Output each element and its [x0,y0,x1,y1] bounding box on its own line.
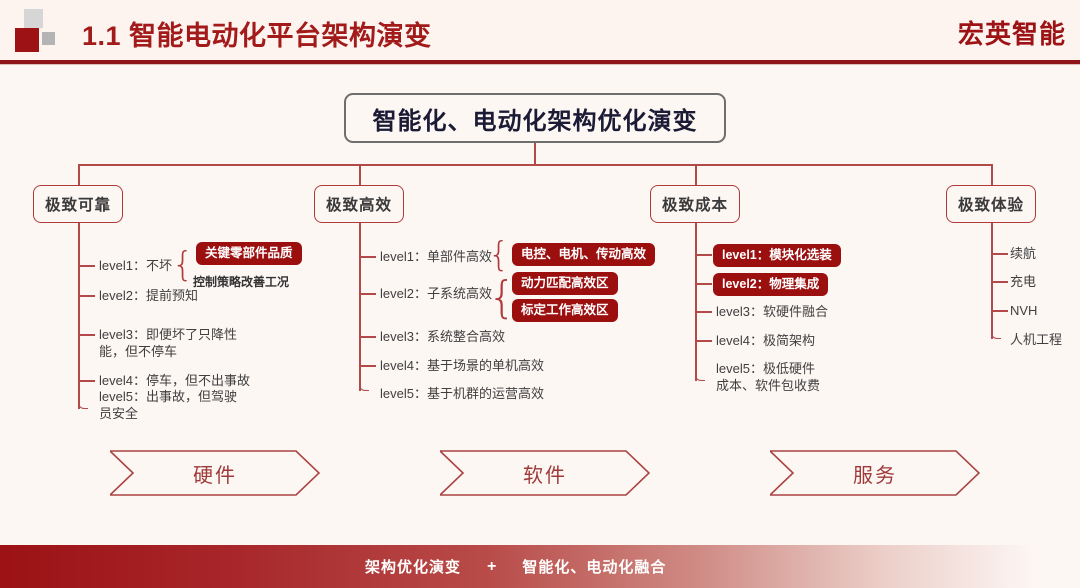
column-2-annotation-badge-2: 动力匹配高效区 [512,272,618,295]
chevron-hardware[interactable]: 硬件 [110,450,320,496]
chevron-service-shape [770,450,980,496]
column-4-tick-1 [992,253,1008,255]
column-4-tick-2 [992,281,1008,283]
column-4-tick-3 [992,310,1008,312]
column-3-level-4: level4：极简架构 [716,332,815,349]
column-2-tick-2 [360,293,376,295]
column-2-level-3: level3：系统整合高效 [380,328,505,345]
column-4-level-4: 人机工程 [1010,331,1062,348]
column-3-tick-2 [696,283,712,285]
branch-node-4-label: 极致体验 [958,193,1024,215]
column-1-annotation-badge: 关键零部件品质 [196,242,302,265]
column-1-tick-3 [79,334,95,336]
column-3-level-2: level2：物理集成 [713,273,828,296]
column-4-level-3: NVH [1010,302,1037,319]
column-1-tick-1 [79,265,95,267]
column-3-level-3: level3：软硬件融合 [716,303,828,320]
column-2-level-5: level5：基于机群的运营高效 [380,385,544,402]
branch-node-1-label: 极致可靠 [45,193,111,215]
branch-node-4: 极致体验 [946,185,1036,223]
column-1-spine-cap [78,399,88,409]
footer-right-text: 智能化、电动化融合 [522,556,666,577]
branch-node-3: 极致成本 [650,185,740,223]
root-node-label: 智能化、电动化架构优化演变 [373,101,698,136]
column-2-tick-3 [360,336,376,338]
root-node: 智能化、电动化架构优化演变 [344,93,726,143]
column-1-tick-2 [79,295,95,297]
column-2-level-2: level2：子系统高效 [380,285,492,302]
column-3-tick-4 [696,340,712,342]
column-3-level-5: level5：极低硬件 成本、软件包收费 [716,360,820,394]
column-3-level-1: level1：模块化选装 [713,244,841,267]
branch-node-3-label: 极致成本 [662,193,728,215]
branch-node-2-label: 极致高效 [326,193,392,215]
column-3-spine-cap [695,371,705,381]
decor-square-gray-small [42,32,55,45]
slide-header: 1.1 智能电动化平台架构演变 宏英智能 [0,0,1080,62]
footer-left-text: 架构优化演变 [365,556,461,577]
connector-bus [78,164,992,166]
column-1-level-5: level5：出事故，但驾驶 员安全 [99,388,237,422]
connector-drop-3 [695,164,697,186]
column-2-tick-1 [360,256,376,258]
column-2-level-4: level4：基于场景的单机高效 [380,357,544,374]
connector-drop-4 [991,164,993,186]
chevron-hardware-shape [110,450,320,496]
column-4-spine-cap [991,329,1001,339]
brand-logo: 宏英智能 [958,14,1066,51]
column-4-level-1: 续航 [1010,245,1036,262]
column-1-level-3: level3：即便坏了只降性 能，但不停车 [99,326,237,360]
column-1-level-2: level2：提前预知 [99,287,198,304]
column-1-brace: { [172,248,194,282]
page-title: 1.1 智能电动化平台架构演变 [82,14,432,53]
connector-drop-1 [78,164,80,186]
header-divider-thin [0,64,1080,65]
footer-content: 架构优化演变 + 智能化、电动化融合 [0,545,1080,588]
column-1-level-1: level1：不坏 [99,257,172,274]
column-1-annotation-note: 控制策略改善工况 [193,273,289,290]
connector-drop-2 [359,164,361,186]
slide-footer: 架构优化演变 + 智能化、电动化融合 [0,545,1080,588]
footer-plus-sign: + [487,558,496,576]
decor-square-gray-top [24,9,43,28]
column-2-annotation-badge-3: 标定工作高效区 [512,299,618,322]
branch-node-2: 极致高效 [314,185,404,223]
column-3-tick-3 [696,311,712,313]
branch-node-1: 极致可靠 [33,185,123,223]
column-2-spine-cap [359,381,369,391]
chevron-software[interactable]: 软件 [440,450,650,496]
column-1-tick-4 [79,380,95,382]
slide-canvas: 1.1 智能电动化平台架构演变 宏英智能 智能化、电动化架构优化演变 极致可靠 … [0,0,1080,588]
column-1-level-4: level4：停车，但不出事故 [99,372,250,389]
root-stem [534,143,536,165]
column-2-tick-4 [360,365,376,367]
column-2-brace-1: { [488,238,510,272]
chevron-service[interactable]: 服务 [770,450,980,496]
decor-square-red [15,28,39,52]
chevron-software-shape [440,450,650,496]
column-3-spine [695,223,697,381]
column-4-level-2: 充电 [1010,273,1036,290]
column-2-level-1: level1：单部件高效 [380,248,492,265]
column-3-tick-1 [696,254,712,256]
column-2-annotation-badge-1: 电控、电机、传动高效 [512,243,655,266]
